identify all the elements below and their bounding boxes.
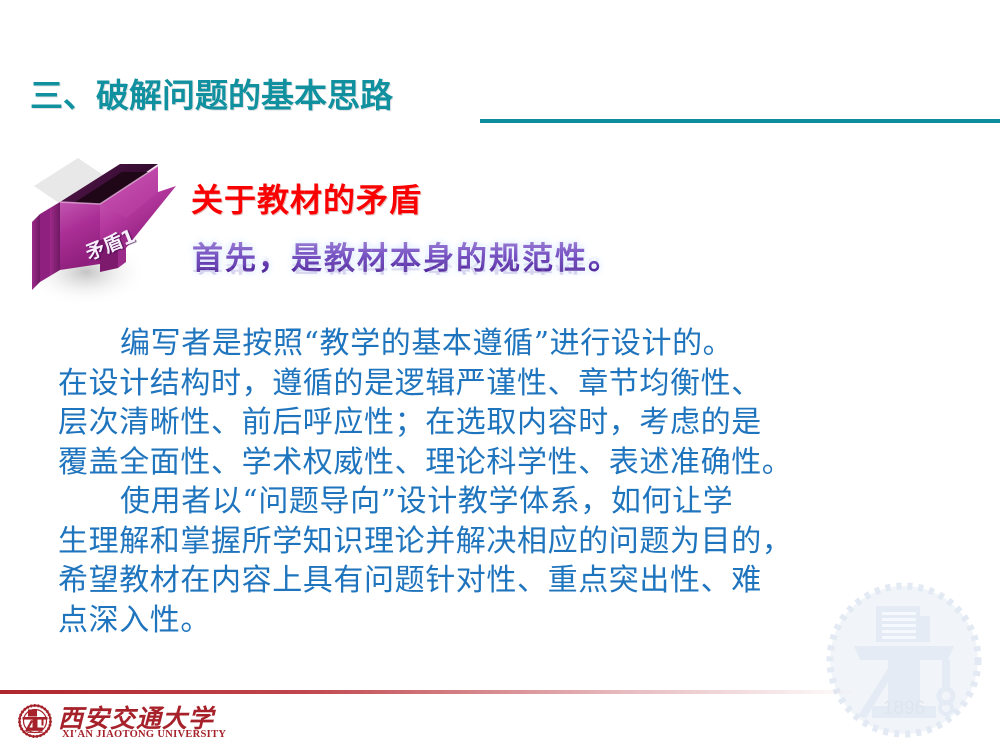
body-line: 点深入性。 [58, 601, 958, 641]
body-line: 使用者以“问题导向”设计教学体系，如何让学 [58, 482, 958, 522]
body-line: 层次清晰性、前后呼应性；在选取内容时，考虑的是 [58, 403, 958, 443]
watermark-year: 1896 [883, 698, 925, 719]
university-name-en: XI'AN JIAOTONG UNIVERSITY [62, 729, 226, 740]
footer-divider [0, 690, 860, 694]
body-line: 在设计结构时，遵循的是逻辑严谨性、章节均衡性、 [58, 364, 958, 404]
slide-title-row: 三、破解问题的基本思路 [0, 76, 1000, 128]
body-text: 编写者是按照“教学的基本遵循”进行设计的。 在设计结构时，遵循的是逻辑严谨性、章… [58, 324, 958, 640]
body-line: 生理解和掌握所学知识理论并解决相应的问题为目的， [58, 522, 958, 562]
university-logo: 西安交通大学 XI'AN JIAOTONG UNIVERSITY [18, 702, 278, 746]
body-line: 覆盖全面性、学术权威性、理论科学性、表述准确性。 [58, 443, 958, 483]
university-emblem-icon [18, 704, 52, 743]
callout-heading-purple-block: 首先，是教材本身的规范性。 首先，是教材本身的规范性。 [192, 240, 792, 302]
slide-canvas: 1896 三、破解问题的基本思路 [0, 0, 1000, 750]
body-line: 编写者是按照“教学的基本遵循”进行设计的。 [58, 324, 958, 364]
matter-arrow-callout: 矛盾1 [26, 152, 201, 307]
body-line: 希望教材在内容上具有问题针对性、重点突出性、难 [58, 561, 958, 601]
callout-heading-purple: 首先，是教材本身的规范性。 [192, 240, 792, 278]
callout-heading-red: 关于教材的矛盾 [191, 175, 422, 221]
block-arrow-right-icon [26, 152, 201, 307]
page-title: 三、破解问题的基本思路 [30, 76, 393, 116]
title-underline [480, 119, 1000, 123]
